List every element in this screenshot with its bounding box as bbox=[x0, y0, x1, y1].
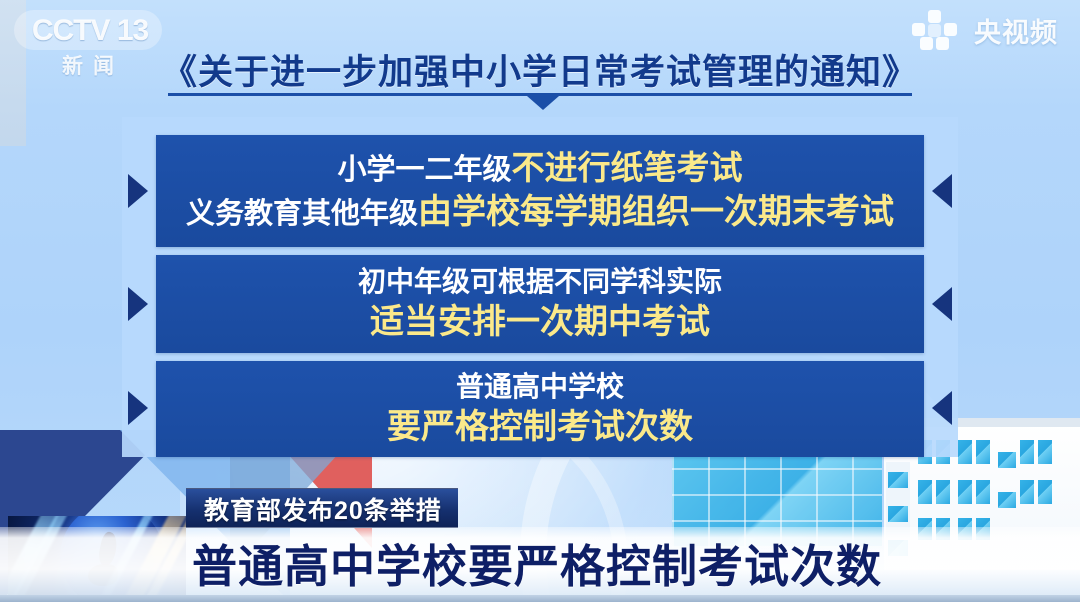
policy-panel-3: 普通高中学校 要严格控制考试次数 bbox=[156, 361, 924, 457]
building-window bbox=[976, 480, 990, 504]
panel-2-line-1-white: 初中年级可根据不同学科实际 bbox=[358, 266, 722, 297]
panel-2-arrow-right-icon bbox=[932, 287, 952, 321]
panel-1-line-1: 小学一二年级不进行纸笔考试 bbox=[337, 151, 742, 186]
chevron-down-icon bbox=[527, 96, 559, 110]
panel-2-line-2-yellow: 适当安排一次期中考试 bbox=[370, 303, 710, 341]
panel-3-line-1-white: 普通高中学校 bbox=[456, 371, 624, 402]
building-window bbox=[918, 480, 932, 504]
panels-container: 小学一二年级不进行纸笔考试 义务教育其他年级由学校每学期组织一次期末考试 初中年… bbox=[122, 117, 958, 457]
annex-window bbox=[888, 472, 908, 488]
document-title: 《关于进一步加强中小学日常考试管理的通知》 bbox=[0, 44, 1080, 95]
panel-1-line-2-yellow: 由学校每学期组织一次期末考试 bbox=[418, 193, 894, 231]
panel-2-arrow-left-icon bbox=[128, 287, 148, 321]
panel-1-arrow-right-icon bbox=[932, 174, 952, 208]
panel-1-arrow-left-icon bbox=[128, 174, 148, 208]
building-window bbox=[958, 480, 972, 504]
building-window bbox=[936, 480, 950, 504]
policy-panel-1: 小学一二年级不进行纸笔考试 义务教育其他年级由学校每学期组织一次期末考试 bbox=[156, 135, 924, 247]
panel-3-line-1: 普通高中学校 bbox=[456, 372, 624, 401]
panel-3-arrow-right-icon bbox=[932, 391, 952, 425]
panel-1-line-2-white: 义务教育其他年级 bbox=[186, 198, 418, 230]
lower-third-headline: 普通高中学校要严格控制考试次数 bbox=[192, 530, 882, 595]
cctv-logo-text: CCTV 13 bbox=[20, 14, 160, 48]
panel-1-line-2: 义务教育其他年级由学校每学期组织一次期末考试 bbox=[186, 195, 894, 231]
broadcast-screen: CCTV 13 新闻 央视频 《关于进一步加强中小学日常考试管理的通知》 小学一… bbox=[0, 0, 1080, 602]
panel-1-line-1-yellow: 不进行纸笔考试 bbox=[512, 149, 743, 186]
building-window bbox=[1038, 480, 1052, 504]
panel-2-line-2: 适当安排一次期中考试 bbox=[370, 305, 710, 341]
building-window bbox=[998, 492, 1016, 508]
panel-3-line-2-yellow: 要严格控制考试次数 bbox=[387, 408, 693, 446]
lower-third-bottom-strip bbox=[0, 595, 1080, 602]
building-window bbox=[1020, 480, 1034, 504]
annex-window bbox=[888, 506, 908, 522]
panel-2-line-1: 初中年级可根据不同学科实际 bbox=[358, 267, 722, 296]
panel-3-line-2: 要严格控制考试次数 bbox=[387, 410, 693, 446]
lower-third-kicker: 教育部发布20条举措 bbox=[186, 488, 458, 528]
building-window bbox=[998, 452, 1016, 468]
panel-3-arrow-left-icon bbox=[128, 391, 148, 425]
building-window bbox=[1038, 440, 1052, 464]
building-window bbox=[958, 440, 972, 464]
building-window bbox=[976, 440, 990, 464]
lower-third-kicker-text: 教育部发布20条举措 bbox=[204, 491, 442, 527]
building-window bbox=[1020, 440, 1034, 464]
policy-panel-2: 初中年级可根据不同学科实际 适当安排一次期中考试 bbox=[156, 255, 924, 353]
panel-1-line-1-white: 小学一二年级 bbox=[337, 154, 511, 186]
